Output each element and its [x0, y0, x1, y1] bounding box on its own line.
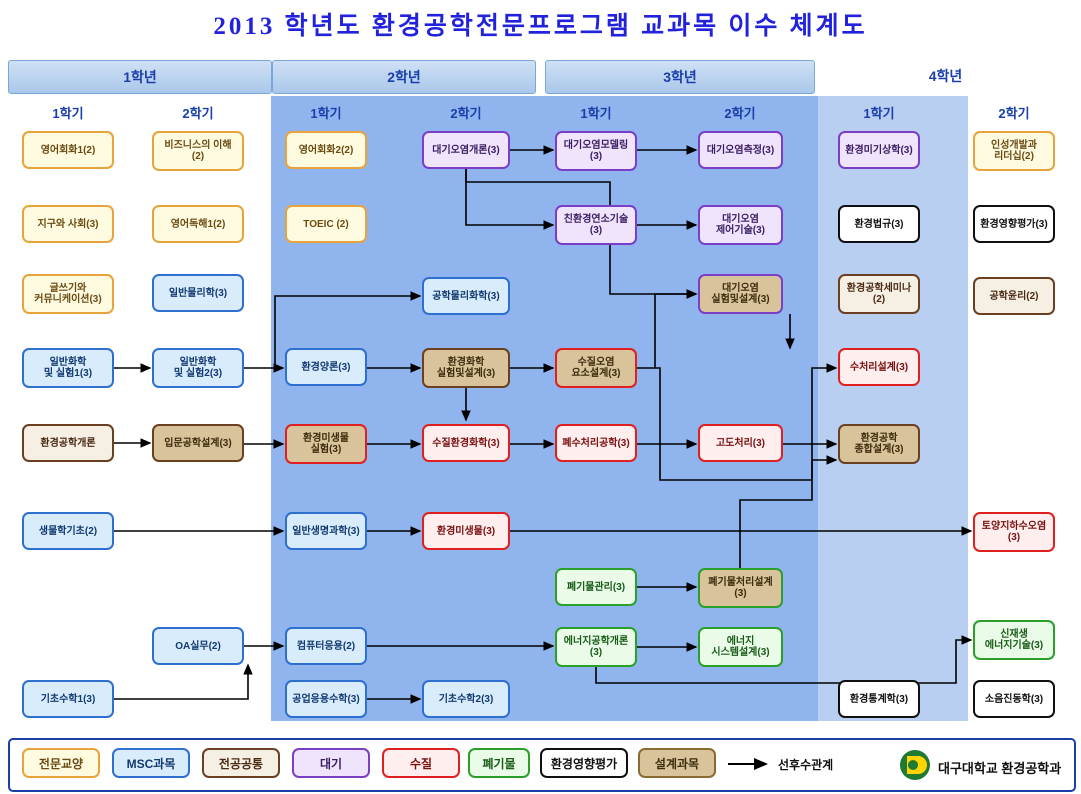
- organization-label: 대구대학교 환경공학과: [938, 758, 1061, 777]
- course-box-y2s1_7[interactable]: 공업응용수학(3): [285, 680, 367, 718]
- course-box-y2s2_4[interactable]: 수질환경화학(3): [422, 424, 510, 462]
- semester-label-6: 2학기: [700, 103, 780, 122]
- course-box-y3s2_2[interactable]: 대기오염 제어기술(3): [698, 205, 783, 245]
- semester-label-3: 1학기: [286, 103, 366, 122]
- syllabus-diagram: 2013 학년도 환경공학전문프로그램 교과목 이수 체계도 1학년 2학년 3…: [0, 0, 1081, 794]
- course-box-y2s2_2[interactable]: 공학물리화학(3): [422, 277, 510, 315]
- university-logo-icon: [898, 748, 932, 782]
- course-box-y4s2_1[interactable]: 인성개발과 리더십(2): [973, 131, 1055, 171]
- legend-item-7: 설계과목: [638, 748, 716, 778]
- course-box-y3s1_1[interactable]: 대기오염모델링 (3): [555, 131, 637, 171]
- course-box-y1s1_6[interactable]: 생물학기초(2): [22, 512, 114, 550]
- course-box-y3s2_4[interactable]: 고도처리(3): [698, 424, 783, 462]
- course-box-y1s1_4[interactable]: 일반화학 및 실험1(3): [22, 348, 114, 388]
- course-box-y1s2_3[interactable]: 일반물리학(3): [152, 274, 244, 312]
- course-box-y3s2_1[interactable]: 대기오염측정(3): [698, 131, 783, 169]
- course-box-y3s2_3[interactable]: 대기오염 실험및설계(3): [698, 274, 783, 314]
- semester-label-5: 1학기: [556, 103, 636, 122]
- course-box-y4s2_2[interactable]: 환경영향평가(3): [973, 205, 1055, 243]
- course-box-y2s1_2[interactable]: TOEIC (2): [285, 205, 367, 243]
- course-box-y4s2_5[interactable]: 신재생 에너지기술(3): [973, 620, 1055, 660]
- legend-relation-label: 선후수관계: [778, 756, 833, 773]
- semester-label-1: 1학기: [28, 103, 108, 122]
- course-box-y1s2_4[interactable]: 일반화학 및 실험2(3): [152, 348, 244, 388]
- course-box-y2s1_3[interactable]: 환경양론(3): [285, 348, 367, 386]
- course-box-y1s2_6[interactable]: OA실무(2): [152, 627, 244, 665]
- course-box-y2s2_5[interactable]: 환경미생물(3): [422, 512, 510, 550]
- semester-label-5-text: 1학기: [580, 106, 611, 121]
- course-box-y4s1_1[interactable]: 환경미기상학(3): [838, 131, 920, 169]
- legend-item-3: 대기: [292, 748, 370, 778]
- legend-item-2: 전공공통: [202, 748, 280, 778]
- legend-item-0: 전문교양: [22, 748, 100, 778]
- year-header-3-label: 3학년: [663, 67, 697, 87]
- year-header-1: 1학년: [8, 60, 272, 94]
- course-box-y2s1_5[interactable]: 일반생명과학(3): [285, 512, 367, 550]
- course-box-y4s1_4[interactable]: 수처리설계(3): [838, 348, 920, 386]
- year-header-4: 4학년: [818, 60, 1073, 92]
- semester-label-7-text: 1학기: [863, 106, 894, 121]
- legend-item-6: 환경영향평가: [540, 748, 628, 778]
- year-header-2-label: 2학년: [387, 67, 421, 87]
- semester-label-2-text: 2학기: [182, 106, 213, 121]
- year-header-1-label: 1학년: [123, 67, 157, 87]
- course-box-y2s2_1[interactable]: 대기오염개론(3): [422, 131, 510, 169]
- semester-label-4: 2학기: [426, 103, 506, 122]
- year-header-4-label: 4학년: [929, 66, 963, 86]
- course-box-y4s1_6[interactable]: 환경통계학(3): [838, 680, 920, 718]
- course-box-y4s1_2[interactable]: 환경법규(3): [838, 205, 920, 243]
- course-box-y1s1_1[interactable]: 영어회화1(2): [22, 131, 114, 169]
- course-box-y2s1_1[interactable]: 영어회화2(2): [285, 131, 367, 169]
- course-box-y1s2_5[interactable]: 입문공학설계(3): [152, 424, 244, 462]
- course-box-y4s1_5[interactable]: 환경공학 종합설계(3): [838, 424, 920, 464]
- course-box-y3s2_5[interactable]: 폐기물처리설계 (3): [698, 568, 783, 608]
- page-title: 2013 학년도 환경공학전문프로그램 교과목 이수 체계도: [0, 6, 1081, 42]
- course-box-y3s1_5[interactable]: 폐기물관리(3): [555, 568, 637, 606]
- course-box-y3s1_3[interactable]: 수질오염 요소설계(3): [555, 348, 637, 388]
- course-box-y2s1_6[interactable]: 컴퓨터응용(2): [285, 627, 367, 665]
- course-box-y2s2_6[interactable]: 기초수학2(3): [422, 680, 510, 718]
- course-box-y3s1_4[interactable]: 폐수처리공학(3): [555, 424, 637, 462]
- course-box-y4s1_3[interactable]: 환경공학세미나 (2): [838, 274, 920, 314]
- course-box-y1s2_2[interactable]: 영어독해1(2): [152, 205, 244, 243]
- semester-label-7: 1학기: [839, 103, 919, 122]
- course-box-y3s1_2[interactable]: 친환경연소기술 (3): [555, 205, 637, 245]
- semester-label-1-text: 1학기: [52, 106, 83, 121]
- legend-item-5: 폐기물: [468, 748, 530, 778]
- course-box-y4s2_4[interactable]: 토양지하수오염 (3): [973, 512, 1055, 552]
- course-box-y4s2_3[interactable]: 공학윤리(2): [973, 277, 1055, 315]
- column-bg-year4: [818, 96, 968, 721]
- semester-label-8-text: 2학기: [998, 106, 1029, 121]
- course-box-y1s1_7[interactable]: 기초수학1(3): [22, 680, 114, 718]
- semester-label-6-text: 2학기: [724, 106, 755, 121]
- semester-label-8: 2학기: [974, 103, 1054, 122]
- course-box-y4s2_6[interactable]: 소음진동학(3): [973, 680, 1055, 718]
- course-box-y1s2_1[interactable]: 비즈니스의 이해 (2): [152, 131, 244, 171]
- semester-label-4-text: 2학기: [450, 106, 481, 121]
- course-box-y3s2_6[interactable]: 에너지 시스템설계(3): [698, 627, 783, 667]
- course-box-y1s1_2[interactable]: 지구와 사회(3): [22, 205, 114, 243]
- legend-item-1: MSC과목: [112, 748, 190, 778]
- year-header-3: 3학년: [545, 60, 815, 94]
- semester-label-2: 2학기: [158, 103, 238, 122]
- course-box-y3s1_6[interactable]: 에너지공학개론 (3): [555, 627, 637, 667]
- course-box-y2s2_3[interactable]: 환경화학 실험및설계(3): [422, 348, 510, 388]
- semester-label-3-text: 1학기: [310, 106, 341, 121]
- course-box-y1s1_3[interactable]: 글쓰기와 커뮤니케이션(3): [22, 274, 114, 314]
- legend-item-4: 수질: [382, 748, 460, 778]
- year-header-2: 2학년: [272, 60, 536, 94]
- course-box-y1s1_5[interactable]: 환경공학개론: [22, 424, 114, 462]
- course-box-y2s1_4[interactable]: 환경미생물 실험(3): [285, 424, 367, 464]
